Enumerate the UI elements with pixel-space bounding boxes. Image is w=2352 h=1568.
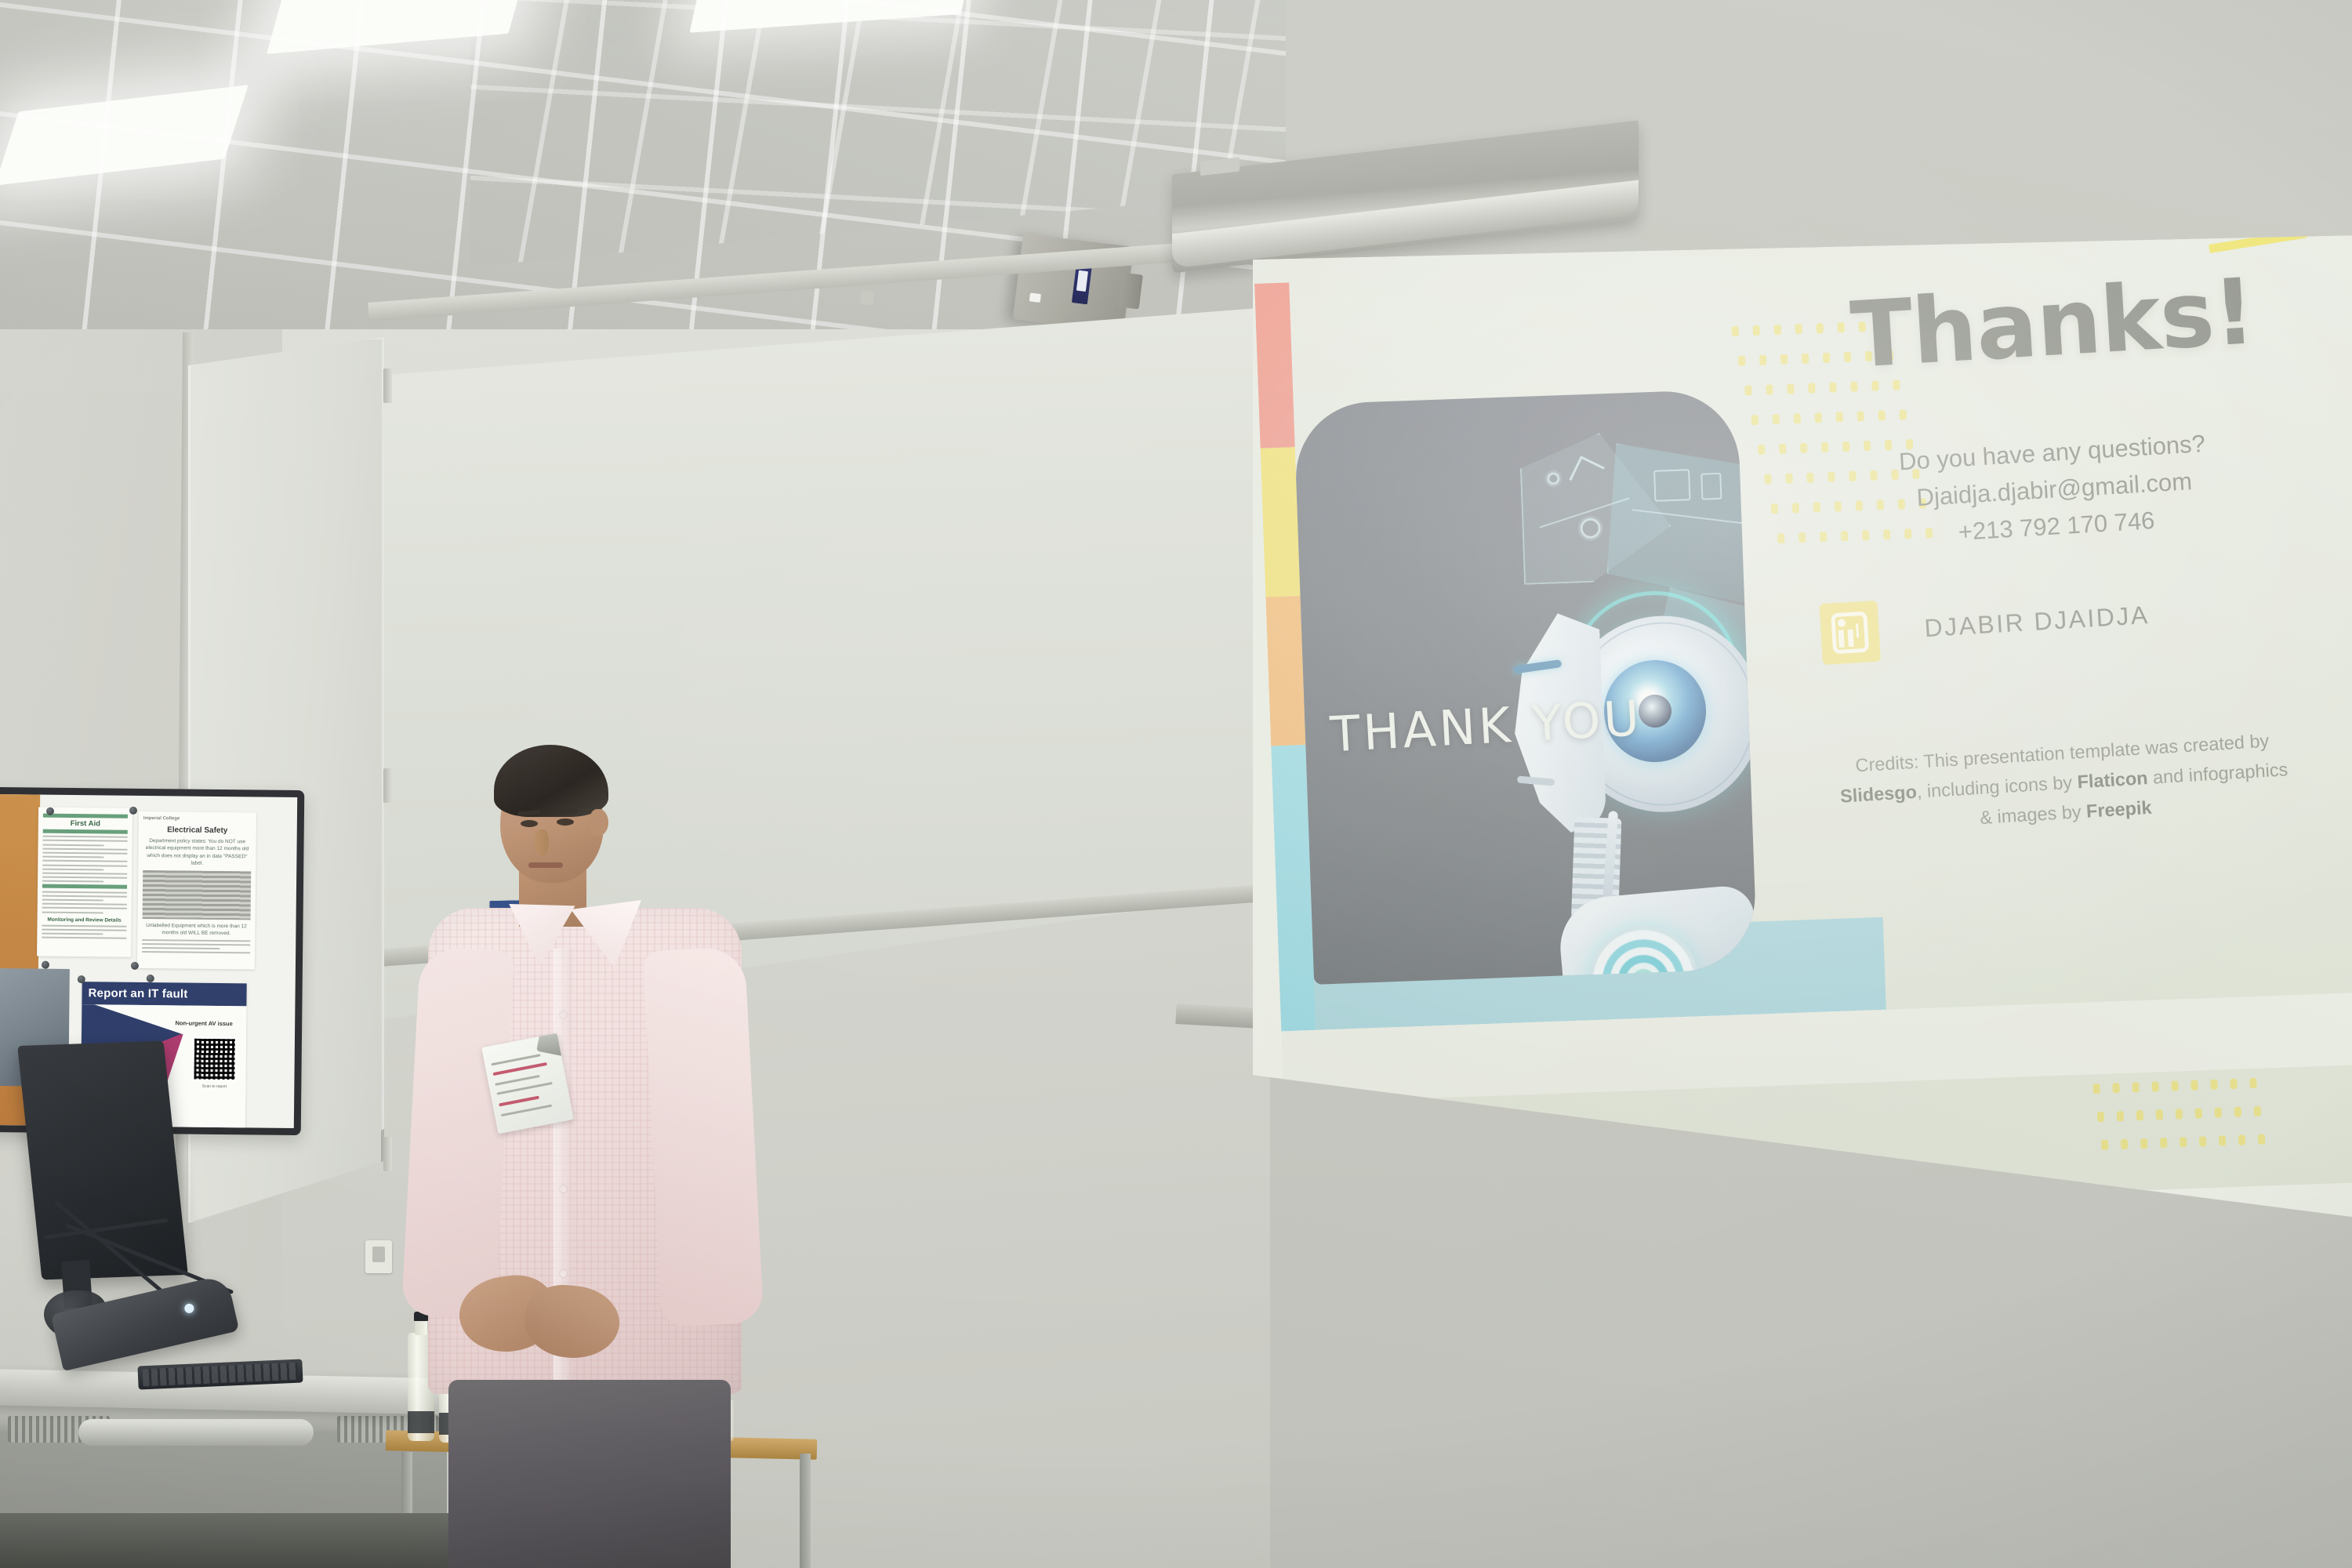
whiteboard-rail-knob [861,291,873,305]
push-pin [42,961,49,969]
poster-accent-bar [43,829,128,834]
presenter-nose [535,829,549,856]
slide-title: Thanks! [1849,267,2257,382]
presenter [408,753,847,1568]
poster-accent-bar [42,884,127,889]
push-pin [78,975,85,983]
presenter-trousers [448,1380,731,1568]
it-fault-banner: Report an IT fault [82,982,246,1006]
poster-body-lines [42,836,128,883]
id-badge [481,1033,574,1134]
first-aid-title: First Aid [43,819,128,829]
hud-chip-icon [1653,469,1690,502]
slide-image-card: THANK YOU [1294,389,1758,985]
push-pin [46,808,54,815]
hud-chip-icon [1700,473,1722,500]
wall-power-socket [365,1240,392,1273]
credits-brand-slidesgo: Slidesgo [1839,782,1917,807]
shirt-button [560,1185,567,1192]
ceiling-light-panel [689,0,972,33]
presenter-name: DJABIR DJAIDJA [1923,601,2150,643]
shirt-button [560,1011,567,1018]
linkedin-icon-n [1847,630,1853,647]
credits-line3: & images by [1980,801,2087,828]
door-hinge [383,768,392,803]
lectern-shelf [78,1419,314,1446]
poster-header: Imperial College [143,816,252,822]
ceiling-light-panel [0,85,249,185]
door-hinge [383,368,392,403]
electrical-safety-title: Electrical Safety [143,826,252,835]
credits-brand-flaticon: Flaticon [2077,768,2148,792]
credits-line2-mid: , including icons by [1916,772,2078,802]
photo-scene: 307B Plant Room First Aid Monitoring and… [0,0,2352,1568]
shirt-button [560,1270,567,1277]
push-pin [131,962,139,970]
presentation-slide: THANK YOU Thanks! Do you have any questi… [1254,209,2352,1221]
poster-body-lines [42,891,127,913]
presenter-row: DJABIR DJAIDJA [1819,574,2324,665]
presenter-eyebrow [554,808,577,814]
presenter-right-arm [643,946,764,1327]
projector-indicator-light [1029,292,1041,303]
keyboard-keys[interactable] [143,1363,299,1387]
first-aid-subtitle: Monitoring and Review Details [42,916,127,923]
poster-accent-bar [43,814,128,818]
color-bar-red [1254,282,1295,448]
presenter-mouth [528,862,563,868]
projector-lens [1119,273,1143,310]
linkedin-icon [1819,601,1881,665]
document-camera-indicator [183,1303,194,1314]
ceiling-light-panel [267,0,525,54]
presenter-eye [557,818,574,826]
presenter-left-arm [401,946,514,1319]
qr-caption: Scan to report [191,1084,238,1090]
poster-diagram [143,870,252,920]
presenter-hair [494,745,608,817]
poster-body-lines [142,939,250,954]
push-pin [147,975,154,982]
poster-body-lines [42,924,126,939]
push-pin [129,807,137,815]
slide-credits: Credits: This presentation template was … [1737,719,2352,848]
linkedin-icon-bar [1838,630,1844,647]
color-bar-yellow [1259,447,1301,597]
credits-brand-freepik: Freepik [2085,797,2152,822]
electrical-safety-body: Department policy states: You do NOT use… [143,837,251,868]
electrical-safety-poster: Imperial College Electrical Safety Depar… [137,811,256,970]
credits-line2-post: and infographics [2147,759,2288,788]
electrical-safety-footer: Unlabelled Equipment which is more than … [142,922,250,938]
first-aid-poster: First Aid Monitoring and Review Details [37,808,132,957]
presenter-eye [521,820,538,827]
presenter-ear [590,809,608,836]
qr-code [192,1037,237,1082]
slide-contact-block: Do you have any questions? Djaidja.djabi… [1754,416,2352,563]
ceiling-far-section [470,0,1286,267]
door-hinge [383,1137,392,1171]
slide-text-column: Thanks! Do you have any questions? Djaid… [1748,241,2352,1171]
it-fault-subtitle: Non-urgent AV issue [166,1019,241,1027]
color-bar-orange [1265,596,1306,746]
